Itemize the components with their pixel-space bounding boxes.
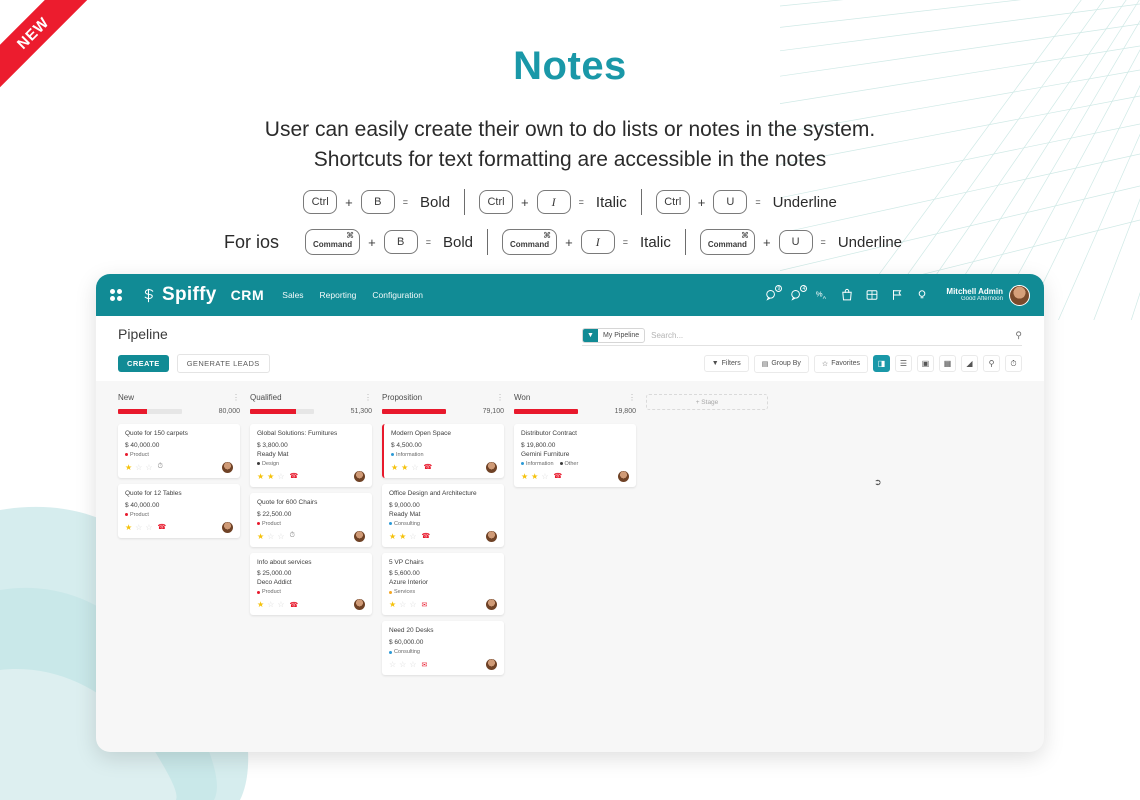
card-title: 5 VP Chairs <box>389 559 497 568</box>
shortcut-underline-windows: Ctrl + U = Underline <box>642 190 851 214</box>
avatar[interactable] <box>486 531 497 542</box>
card-tags: Product <box>257 589 365 595</box>
card-title: Global Solutions: Furnitures <box>257 430 365 439</box>
progress-track <box>118 409 182 414</box>
star-icon[interactable]: ☆ <box>399 600 406 609</box>
plus-sign: + <box>565 235 573 250</box>
key-ctrl: Ctrl <box>656 190 690 214</box>
card-title: Quote for 150 carpets <box>125 430 233 439</box>
card-tags: Product <box>257 521 365 527</box>
plus-sign: + <box>763 235 771 250</box>
column-amount: 80,000 <box>219 408 240 415</box>
column-title: Proposition <box>382 393 422 402</box>
shop-icon[interactable] <box>840 288 854 302</box>
avatar[interactable] <box>618 471 629 482</box>
column-title: New <box>118 393 134 402</box>
card-amount: $ 9,000.00 <box>389 502 497 509</box>
key-i: I <box>537 190 571 214</box>
shortcut-result-italic: Italic <box>640 234 671 251</box>
shortcut-bold-ios: ⌘ Command + B = Bold <box>291 229 487 255</box>
card-tag: Information <box>521 461 554 467</box>
new-ribbon-label: NEW <box>14 14 53 53</box>
column-title: Qualified <box>250 393 282 402</box>
key-command: ⌘ Command <box>502 229 557 255</box>
column-progress: 51,300 <box>250 408 372 415</box>
map-view-button[interactable]: ⚲ <box>983 355 1000 372</box>
star-icon[interactable]: ☆ <box>399 660 406 669</box>
card-footer: ★ ★ ☆ ☎ <box>391 462 497 473</box>
column-amount: 19,800 <box>615 408 636 415</box>
card-tags: Consulting <box>389 521 497 527</box>
favorites-label: Favorites <box>831 360 860 367</box>
key-ctrl: Ctrl <box>303 190 337 214</box>
star-icon[interactable]: ☆ <box>409 660 416 669</box>
command-label: Command <box>313 240 352 249</box>
page-title: Notes <box>0 44 1140 89</box>
favorites-button[interactable]: ☆ Favorites <box>814 355 868 373</box>
progress-fill <box>514 409 578 414</box>
card-footer: ☆ ☆ ☆ ✉ <box>389 659 497 670</box>
card-tags: Information <box>391 452 497 458</box>
filter-icon: ▼ <box>712 360 719 367</box>
user-greeting: Good Afternoon <box>946 296 1003 303</box>
kanban-board: New ⋮ 80,000 Quote for 150 carpets $ 40,… <box>96 381 1044 687</box>
command-glyph-icon: ⌘ <box>741 231 749 240</box>
card-partner: Gemini Furniture <box>521 451 629 458</box>
card-tag-label: Services <box>394 589 415 595</box>
phone-icon[interactable]: ☎ <box>424 463 433 471</box>
star-icon[interactable]: ★ <box>389 600 396 609</box>
search-facet-my-pipeline[interactable]: ▼ My Pipeline <box>582 328 645 343</box>
key-command: ⌘ Command <box>700 229 755 255</box>
card-tag-label: Information <box>396 452 424 458</box>
card-tag-label: Consulting <box>394 649 420 655</box>
shortcut-result-bold: Bold <box>443 234 473 251</box>
top-navigation: Sales Reporting Configuration <box>282 290 423 300</box>
column-settings-icon[interactable]: ⋮ <box>364 393 372 402</box>
card-tag-label: Product <box>130 452 149 458</box>
card-footer: ★ ☆ ☆ ⏱ <box>257 531 365 542</box>
avatar[interactable] <box>222 522 233 533</box>
star-icon[interactable]: ★ <box>257 532 264 541</box>
card-amount: $ 19,800.00 <box>521 442 629 449</box>
star-icon: ☆ <box>822 360 828 368</box>
equals-sign: = <box>623 237 628 247</box>
card-partner: Azure Interior <box>389 579 497 586</box>
column-title: Won <box>514 393 530 402</box>
plus-sign: + <box>345 195 353 210</box>
card-footer: ★ ★ ☆ ☎ <box>521 471 629 482</box>
progress-track <box>514 409 578 414</box>
star-icon[interactable]: ☆ <box>541 472 548 481</box>
flag-icon[interactable] <box>890 288 904 302</box>
subtitle: User can easily create their own to do l… <box>0 115 1140 175</box>
topnav-item-configuration[interactable]: Configuration <box>372 290 423 300</box>
view-controls: ▼ Filters ▤ Group By ☆ Favorites ◨ ☰ ▣ ▦… <box>704 355 1022 373</box>
shortcut-italic-ios: ⌘ Command + I = Italic <box>488 229 685 255</box>
equals-sign: = <box>579 197 584 207</box>
translate-icon[interactable]: %A <box>815 288 829 302</box>
card-title: Distributor Contract <box>521 430 629 439</box>
card-partner: Ready Mat <box>389 511 497 518</box>
kanban-card[interactable]: Quote for 12 Tables $ 40,000.00 Product … <box>118 484 240 538</box>
list-view-button[interactable]: ☰ <box>895 355 912 372</box>
kanban-column-won: Won ⋮ 19,800 Distributor Contract $ 19,8… <box>514 393 636 675</box>
kanban-card[interactable]: Distributor Contract $ 19,800.00 Gemini … <box>514 424 636 487</box>
kanban-column-new: New ⋮ 80,000 Quote for 150 carpets $ 40,… <box>118 393 240 675</box>
star-icon[interactable]: ☆ <box>135 463 142 472</box>
card-tag-label: Other <box>565 461 579 467</box>
equals-sign: = <box>821 237 826 247</box>
kanban-card[interactable]: Info about services $ 25,000.00 Deco Add… <box>250 553 372 616</box>
star-icon[interactable]: ★ <box>531 472 538 481</box>
avatar[interactable] <box>1009 285 1030 306</box>
card-footer: ★ ☆ ☆ ☎ <box>257 599 365 610</box>
apps-grid-icon[interactable] <box>110 289 124 301</box>
star-icon[interactable]: ★ <box>257 472 264 481</box>
card-tag: Product <box>125 452 149 458</box>
bulb-icon[interactable] <box>915 288 929 302</box>
group-by-label: Group By <box>771 360 801 367</box>
activity-view-button[interactable]: ⏱ <box>1005 355 1022 372</box>
card-tags: Consulting <box>389 649 497 655</box>
ios-label: For ios <box>224 232 279 253</box>
card-amount: $ 4,500.00 <box>391 442 497 449</box>
star-icon[interactable]: ☆ <box>145 463 152 472</box>
card-tag-label: Product <box>130 512 149 518</box>
kanban-card[interactable]: Global Solutions: Furnitures $ 3,800.00 … <box>250 424 372 487</box>
plus-sign: + <box>368 235 376 250</box>
column-amount: 79,100 <box>483 408 504 415</box>
progress-track <box>250 409 314 414</box>
create-button[interactable]: CREATE <box>118 355 169 372</box>
equals-sign: = <box>426 237 431 247</box>
star-icon[interactable]: ★ <box>125 523 132 532</box>
card-tag-label: Consulting <box>394 521 420 527</box>
user-text: Mitchell Admin Good Afternoon <box>946 287 1003 303</box>
app-window-screenshot: Spiffy CRM Sales Reporting Configuration… <box>96 274 1044 752</box>
user-menu[interactable]: Mitchell Admin Good Afternoon <box>946 285 1030 306</box>
generate-leads-button[interactable]: GENERATE LEADS <box>177 354 270 373</box>
avatar[interactable] <box>354 599 365 610</box>
card-amount: $ 5,600.00 <box>389 570 497 577</box>
command-label: Command <box>510 240 549 249</box>
card-tag-label: Information <box>526 461 554 467</box>
kanban-card[interactable]: Need 20 Desks $ 60,000.00 Consulting ☆ ☆… <box>382 621 504 675</box>
topnav-item-sales[interactable]: Sales <box>282 290 303 300</box>
column-progress: 80,000 <box>118 408 240 415</box>
key-b: B <box>361 190 395 214</box>
control-panel: Pipeline ▼ My Pipeline Search... ⚲ CREAT… <box>96 316 1044 381</box>
phone-icon[interactable]: ☎ <box>158 523 167 531</box>
shortcut-row-ios: For ios ⌘ Command + B = Bold ⌘ Command +… <box>0 229 1140 255</box>
star-icon[interactable]: ☆ <box>267 600 274 609</box>
grid-icon[interactable] <box>865 288 879 302</box>
search-input[interactable]: Search... <box>651 331 1009 340</box>
key-u: U <box>713 190 747 214</box>
progress-track <box>382 409 446 414</box>
card-amount: $ 22,500.00 <box>257 511 365 518</box>
star-icon[interactable]: ☆ <box>409 532 416 541</box>
kanban-column-header: Proposition ⋮ <box>382 393 504 402</box>
kanban-card-list: Global Solutions: Furnitures $ 3,800.00 … <box>250 424 372 615</box>
star-icon[interactable]: ★ <box>399 532 406 541</box>
command-glyph-icon: ⌘ <box>346 231 354 240</box>
activities-badge: 4 <box>800 285 807 292</box>
headline-section: Notes User can easily create their own t… <box>0 0 1140 175</box>
card-tag-label: Product <box>262 589 281 595</box>
card-footer: ★ ★ ☆ ☎ <box>257 471 365 482</box>
kanban-column-proposition: Proposition ⋮ 79,100 Modern Open Space $… <box>382 393 504 675</box>
add-stage-column: + Stage <box>646 393 768 675</box>
equals-sign: = <box>755 197 760 207</box>
kanban-card[interactable]: Quote for 600 Chairs $ 22,500.00 Product… <box>250 493 372 547</box>
brand-logo[interactable]: Spiffy <box>140 284 217 306</box>
shortcut-bold-windows: Ctrl + B = Bold <box>289 190 464 214</box>
card-tags: Product <box>125 452 233 458</box>
card-title: Modern Open Space <box>391 430 497 439</box>
key-i: I <box>581 230 615 254</box>
search-facet-label: My Pipeline <box>598 332 644 339</box>
topbar-right-icons: 9 4 %A Mitchell Admin <box>765 285 1030 306</box>
card-footer: ★ ☆ ☆ ⏱ <box>125 462 233 473</box>
messages-badge: 9 <box>775 285 782 292</box>
svg-text:A: A <box>823 295 827 301</box>
card-footer: ★ ☆ ☆ ☎ <box>125 522 233 533</box>
star-icon[interactable]: ☆ <box>389 660 396 669</box>
card-partner: Ready Mat <box>257 451 365 458</box>
pivot-view-button[interactable]: ▦ <box>939 355 956 372</box>
column-settings-icon[interactable]: ⋮ <box>232 393 240 402</box>
control-panel-top-row: Pipeline ▼ My Pipeline Search... ⚲ <box>118 326 1022 346</box>
card-tag: Other <box>560 461 579 467</box>
shortcut-result-underline: Underline <box>838 234 902 251</box>
phone-icon[interactable]: ☎ <box>422 532 431 540</box>
key-command: ⌘ Command <box>305 229 360 255</box>
card-tag: Product <box>125 512 149 518</box>
star-icon[interactable]: ★ <box>521 472 528 481</box>
star-icon[interactable]: ★ <box>257 600 264 609</box>
plus-sign: + <box>521 195 529 210</box>
card-tag: Services <box>389 589 415 595</box>
kanban-column-header: New ⋮ <box>118 393 240 402</box>
avatar[interactable] <box>486 599 497 610</box>
avatar[interactable] <box>354 471 365 482</box>
progress-fill <box>250 409 296 414</box>
shortcut-italic-windows: Ctrl + I = Italic <box>465 190 641 214</box>
kanban-column-header: Qualified ⋮ <box>250 393 372 402</box>
graph-view-button[interactable]: ◢ <box>961 355 978 372</box>
svg-text:%: % <box>816 289 823 298</box>
phone-icon[interactable]: ☎ <box>290 472 299 480</box>
filters-label: Filters <box>722 360 741 367</box>
phone-icon[interactable]: ☎ <box>290 601 299 609</box>
group-icon: ▤ <box>762 360 769 368</box>
email-icon[interactable]: ✉ <box>422 661 428 669</box>
key-b: B <box>384 230 418 254</box>
star-icon[interactable]: ☆ <box>267 532 274 541</box>
star-icon[interactable]: ★ <box>391 463 398 472</box>
shortcut-result-bold: Bold <box>420 194 450 211</box>
avatar[interactable] <box>222 462 233 473</box>
messages-icon[interactable]: 9 <box>765 288 779 302</box>
progress-fill <box>382 409 446 414</box>
group-by-button[interactable]: ▤ Group By <box>754 355 809 373</box>
star-icon[interactable]: ☆ <box>277 532 284 541</box>
kanban-card-list: Modern Open Space $ 4,500.00 Information… <box>382 424 504 675</box>
card-tag: Design <box>257 461 279 467</box>
column-progress: 19,800 <box>514 408 636 415</box>
card-tag-label: Design <box>262 461 279 467</box>
kanban-card-list: Quote for 150 carpets $ 40,000.00 Produc… <box>118 424 240 538</box>
card-amount: $ 40,000.00 <box>125 442 233 449</box>
card-amount: $ 40,000.00 <box>125 502 233 509</box>
control-panel-button-row: CREATE GENERATE LEADS ▼ Filters ▤ Group … <box>118 354 1022 373</box>
shortcut-row-windows: Ctrl + B = Bold Ctrl + I = Italic Ctrl +… <box>0 189 1140 215</box>
page-heading: Pipeline <box>118 326 168 342</box>
column-settings-icon[interactable]: ⋮ <box>628 393 636 402</box>
topnav-item-reporting[interactable]: Reporting <box>320 290 357 300</box>
star-icon[interactable]: ☆ <box>145 523 152 532</box>
calendar-view-button[interactable]: ▣ <box>917 355 934 372</box>
app-name: CRM <box>231 287 265 303</box>
command-glyph-icon: ⌘ <box>543 231 551 240</box>
star-icon[interactable]: ☆ <box>409 600 416 609</box>
activities-icon[interactable]: 4 <box>790 288 804 302</box>
card-tag: Product <box>257 589 281 595</box>
mouse-cursor: ➲ <box>874 477 882 488</box>
card-tag: Product <box>257 521 281 527</box>
card-footer: ★ ☆ ☆ ✉ <box>389 599 497 610</box>
card-tag-label: Product <box>262 521 281 527</box>
kanban-card[interactable]: Quote for 150 carpets $ 40,000.00 Produc… <box>118 424 240 478</box>
equals-sign: = <box>403 197 408 207</box>
card-partner: Deco Addict <box>257 579 365 586</box>
clock-icon[interactable]: ⏱ <box>290 532 295 540</box>
card-title: Need 20 Desks <box>389 627 497 636</box>
kanban-view-button[interactable]: ◨ <box>873 355 890 372</box>
new-ribbon-band: NEW <box>0 0 92 92</box>
avatar[interactable] <box>354 531 365 542</box>
shortcut-result-underline: Underline <box>773 194 837 211</box>
star-icon[interactable]: ☆ <box>411 463 418 472</box>
key-u: U <box>779 230 813 254</box>
avatar[interactable] <box>486 659 497 670</box>
spiffy-logo-icon <box>140 287 157 304</box>
card-title: Info about services <box>257 559 365 568</box>
card-tags: Product <box>125 512 233 518</box>
phone-icon[interactable]: ☎ <box>554 472 563 480</box>
shortcut-result-italic: Italic <box>596 194 627 211</box>
star-icon[interactable]: ★ <box>389 532 396 541</box>
user-name: Mitchell Admin <box>946 287 1003 296</box>
card-tags: Services <box>389 589 497 595</box>
brand-name: Spiffy <box>162 284 217 306</box>
plus-sign: + <box>698 195 706 210</box>
clock-icon[interactable]: ⏱ <box>158 463 163 471</box>
card-amount: $ 25,000.00 <box>257 570 365 577</box>
shortcut-underline-ios: ⌘ Command + U = Underline <box>686 229 916 255</box>
column-settings-icon[interactable]: ⋮ <box>496 393 504 402</box>
card-amount: $ 3,800.00 <box>257 442 365 449</box>
card-footer: ★ ★ ☆ ☎ <box>389 531 497 542</box>
star-icon[interactable]: ★ <box>267 472 274 481</box>
kanban-card[interactable]: Modern Open Space $ 4,500.00 Information… <box>382 424 504 478</box>
search-bar[interactable]: ▼ My Pipeline Search... ⚲ <box>582 326 1022 346</box>
star-icon[interactable]: ☆ <box>135 523 142 532</box>
kanban-card[interactable]: 5 VP Chairs $ 5,600.00 Azure Interior Se… <box>382 553 504 616</box>
star-icon[interactable]: ☆ <box>277 472 284 481</box>
card-tags: Design <box>257 461 365 467</box>
card-tag: Consulting <box>389 521 420 527</box>
column-progress: 79,100 <box>382 408 504 415</box>
card-title: Office Design and Architecture <box>389 490 497 499</box>
kanban-column-qualified: Qualified ⋮ 51,300 Global Solutions: Fur… <box>250 393 372 675</box>
subtitle-line-2: Shortcuts for text formatting are access… <box>0 145 1140 175</box>
key-ctrl: Ctrl <box>479 190 513 214</box>
star-icon[interactable]: ★ <box>125 463 132 472</box>
kanban-column-header: Won ⋮ <box>514 393 636 402</box>
kanban-card[interactable]: Office Design and Architecture $ 9,000.0… <box>382 484 504 547</box>
filter-icon: ▼ <box>583 329 598 342</box>
email-icon[interactable]: ✉ <box>422 601 428 609</box>
card-amount: $ 60,000.00 <box>389 639 497 646</box>
kanban-card-list: Distributor Contract $ 19,800.00 Gemini … <box>514 424 636 487</box>
card-tags: Information Other <box>521 461 629 467</box>
add-stage-button[interactable]: + Stage <box>646 394 768 410</box>
avatar[interactable] <box>486 462 497 473</box>
card-title: Quote for 12 Tables <box>125 490 233 499</box>
star-icon[interactable]: ☆ <box>277 600 284 609</box>
card-title: Quote for 600 Chairs <box>257 499 365 508</box>
star-icon[interactable]: ★ <box>401 463 408 472</box>
subtitle-line-1: User can easily create their own to do l… <box>0 115 1140 145</box>
card-tag: Consulting <box>389 649 420 655</box>
progress-fill <box>118 409 147 414</box>
card-tag: Information <box>391 452 424 458</box>
search-icon[interactable]: ⚲ <box>1015 330 1022 341</box>
app-topbar: Spiffy CRM Sales Reporting Configuration… <box>96 274 1044 316</box>
filters-button[interactable]: ▼ Filters <box>704 355 749 372</box>
new-ribbon: NEW <box>0 0 92 92</box>
command-label: Command <box>708 240 747 249</box>
column-amount: 51,300 <box>351 408 372 415</box>
